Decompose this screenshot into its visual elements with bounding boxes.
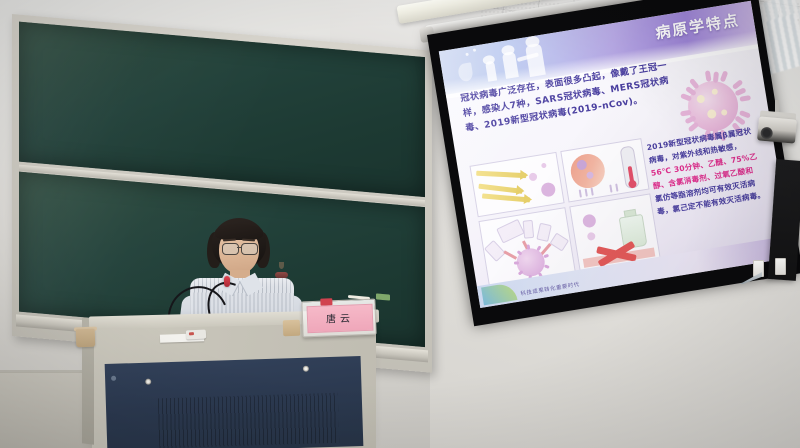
illustration-panel-uv (469, 152, 564, 217)
sparkle-dot-icon (465, 53, 468, 56)
virus-particle-left (582, 213, 597, 228)
sparkle-dot-icon-2 (473, 48, 476, 51)
microphone-head-icon[interactable] (224, 276, 230, 287)
thermometer-icon (619, 145, 640, 189)
illustration-panel-heat (560, 138, 649, 202)
eyeglasses-lens-right (241, 243, 258, 255)
classroom-scene: 病原学特点 冠状病毒广泛存在，表面很多凸起，像戴了王冠一样，感染人7种，SARS… (0, 0, 800, 448)
hair-fringe (215, 224, 263, 240)
ceiling-projector (757, 116, 797, 143)
podium-front-panel (105, 356, 364, 448)
virus-particle-tiny (528, 172, 537, 181)
eyeglasses-bridge (237, 247, 242, 248)
presentation-slide: 病原学特点 冠状病毒广泛存在，表面很多凸起，像戴了王冠一样，感染人7种，SARS… (439, 1, 793, 308)
lectern-podium (92, 322, 376, 448)
second-cup[interactable] (283, 320, 301, 337)
attack-arrow-icon (503, 250, 517, 259)
disinfectant-bottle-2 (523, 220, 535, 239)
virus-particle-small (540, 182, 556, 198)
virus-particle-left-2 (587, 232, 596, 241)
ventilation-slots (158, 393, 339, 448)
panel-screw-right (303, 366, 309, 372)
name-card: 唐云 (307, 304, 374, 334)
projector-lens-icon (760, 127, 773, 140)
nose (279, 262, 284, 269)
blackboard-eraser[interactable] (376, 293, 390, 300)
panel-latch[interactable] (111, 376, 116, 381)
paper-cup[interactable] (76, 329, 96, 348)
heat-circle-icon (568, 152, 607, 191)
footer-logo-icon (481, 282, 517, 305)
remote-power-button[interactable] (189, 332, 194, 335)
panel-screw-left (145, 379, 151, 385)
speaker-name: 唐云 (308, 309, 373, 326)
uv-ray-icon-2 (478, 184, 522, 194)
virus-in-heat-2 (586, 171, 594, 179)
disinfectant-box (496, 219, 525, 244)
disinfectant-bottle-1 (484, 240, 506, 262)
slide-footer-text: 科技成果转化重要时代 (520, 280, 580, 297)
disinfectant-bottle-4 (549, 232, 569, 251)
uv-ray-icon (476, 171, 526, 178)
eyeglasses-lens-left (222, 243, 239, 255)
remote-control[interactable] (186, 329, 206, 339)
name-card-holder: 唐云 (301, 299, 376, 338)
light-switch-2[interactable] (775, 258, 786, 275)
virus-particle-tiny-2 (541, 163, 547, 169)
disinfectant-bottle-3 (536, 223, 551, 242)
virus-in-heat (576, 159, 587, 170)
projection-screen[interactable]: 病原学特点 冠状病毒广泛存在，表面很多凸起，像戴了王冠一样，感染人7种，SARS… (427, 0, 800, 326)
